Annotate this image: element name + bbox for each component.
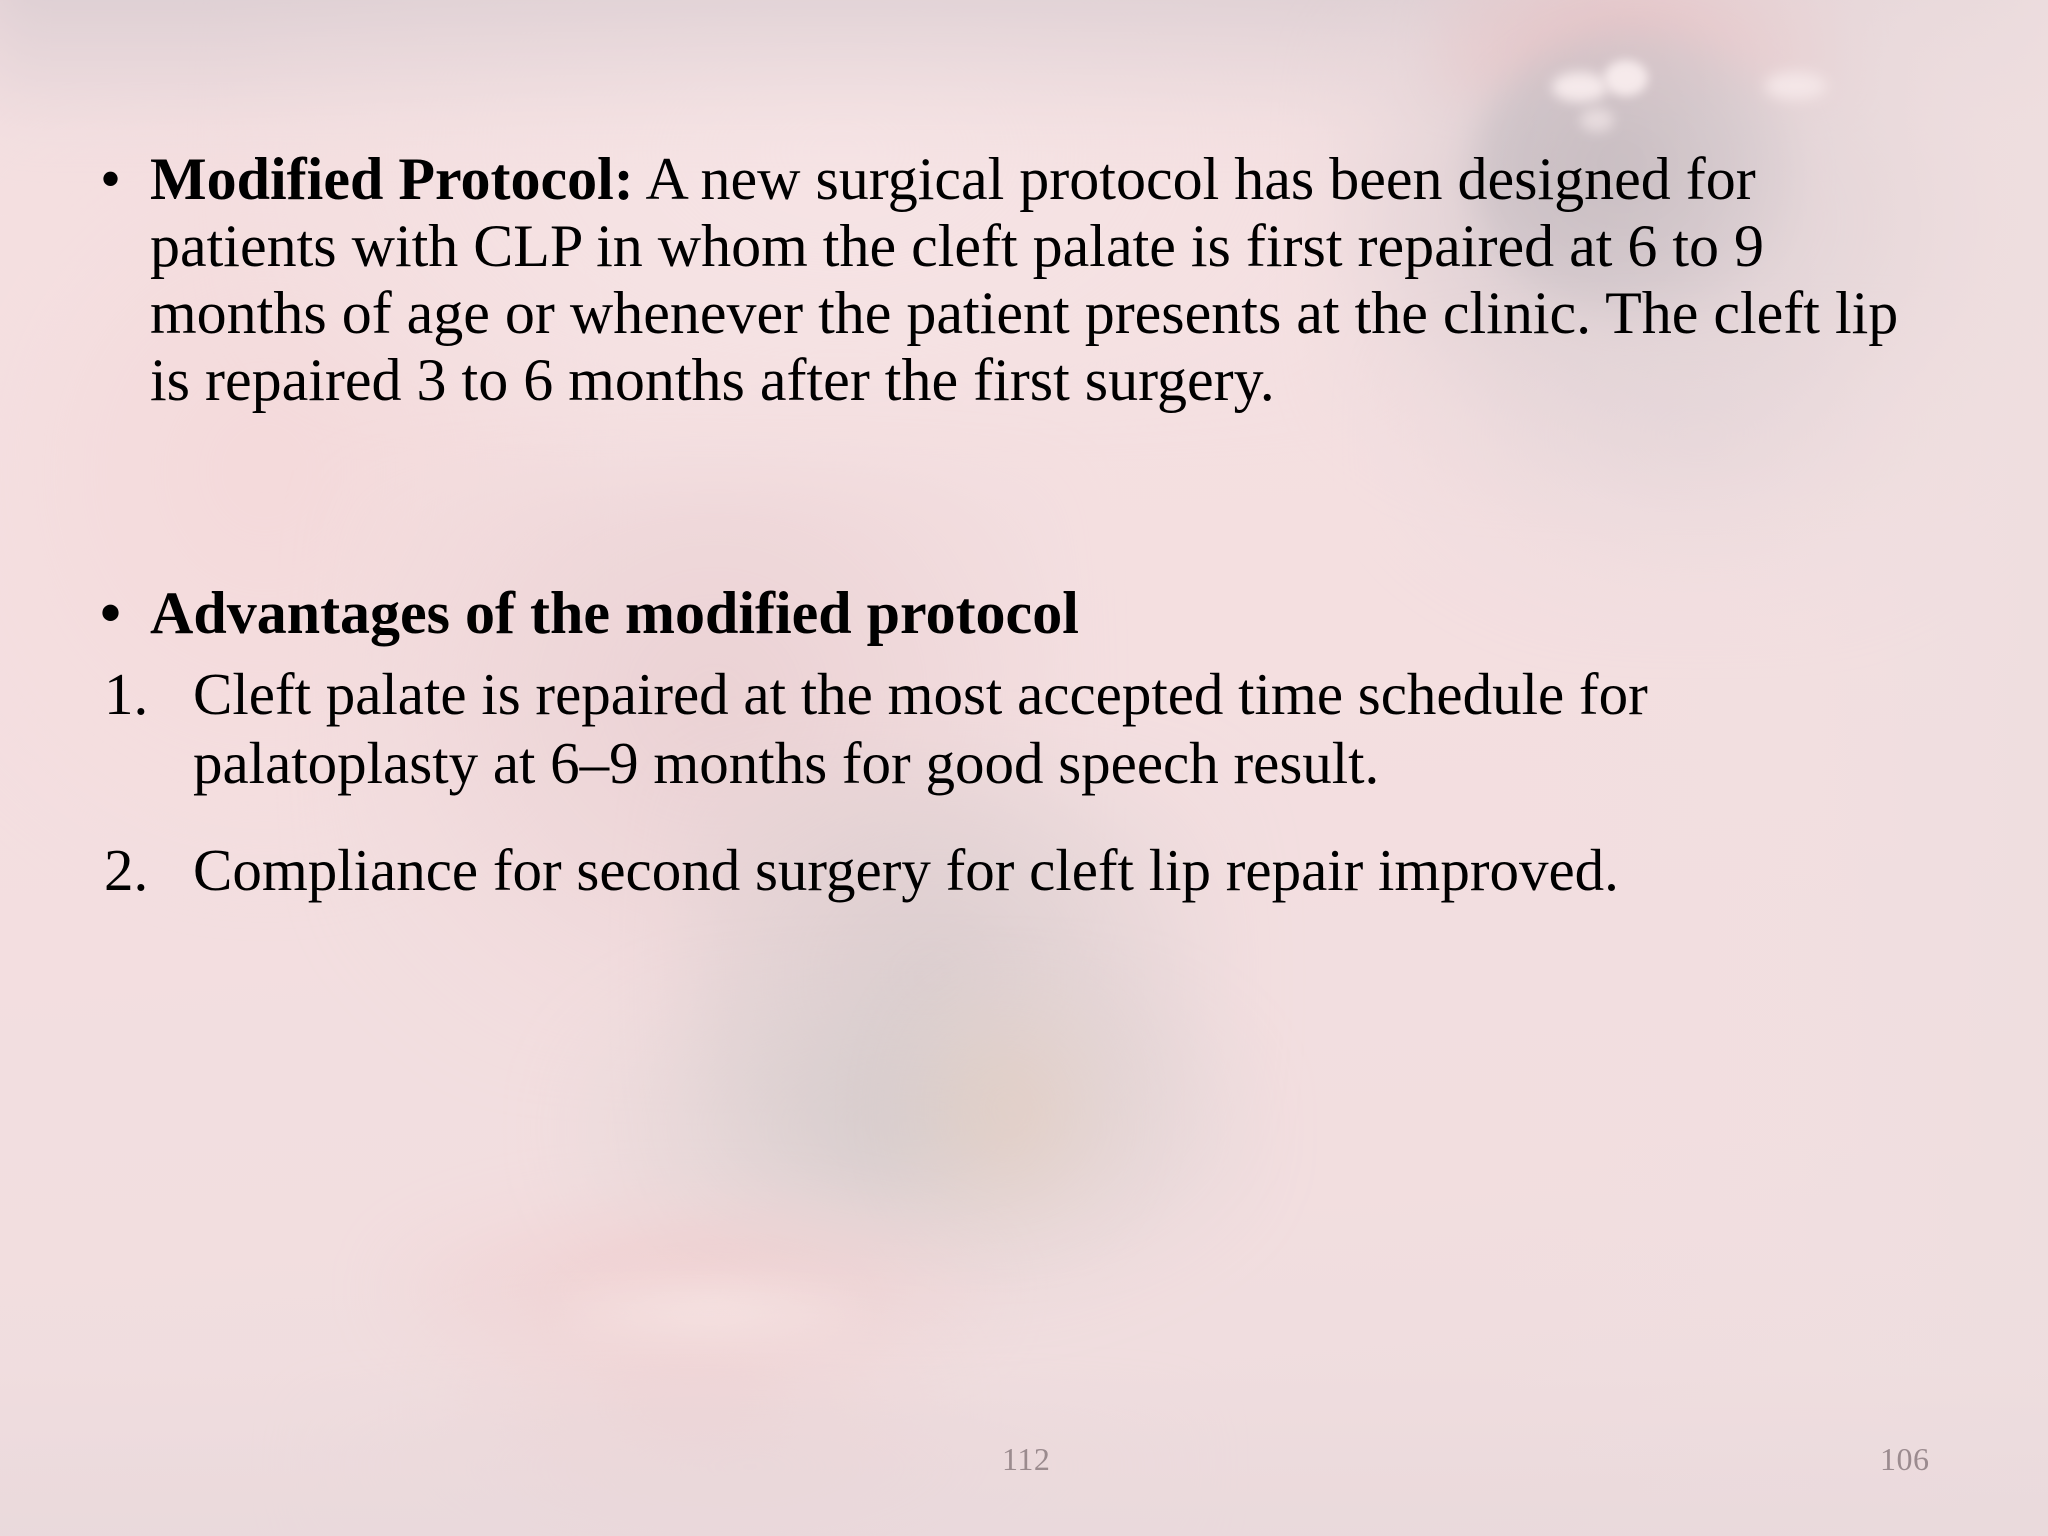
list-item-text: Compliance for second surgery for cleft …: [193, 836, 1908, 905]
list-item: 2. Compliance for second surgery for cle…: [78, 836, 1908, 905]
page-number-center: 112: [1002, 1443, 1050, 1475]
list-item-marker: 2.: [78, 836, 193, 905]
page-number-right: 106: [1880, 1443, 1930, 1475]
list-item-marker: 1.: [78, 660, 193, 729]
slide-canvas: • Modified Protocol: A new surgical prot…: [0, 0, 2048, 1536]
advantages-list: 1. Cleft palate is repaired at the most …: [78, 660, 1908, 905]
bullet-icon: •: [78, 580, 150, 647]
advantages-heading-text: Advantages of the modified protocol: [150, 580, 1908, 647]
bullet-advantages-heading: • Advantages of the modified protocol: [78, 580, 1908, 647]
list-item-text: Cleft palate is repaired at the most acc…: [193, 660, 1908, 798]
bullet-modified-protocol: • Modified Protocol: A new surgical prot…: [78, 146, 1908, 414]
bullet-modified-protocol-text: Modified Protocol: A new surgical protoc…: [150, 146, 1908, 414]
slide-content: • Modified Protocol: A new surgical prot…: [0, 0, 2048, 1536]
bullet-icon: •: [78, 146, 150, 213]
modified-protocol-label: Modified Protocol:: [150, 146, 634, 212]
list-item: 1. Cleft palate is repaired at the most …: [78, 660, 1908, 798]
